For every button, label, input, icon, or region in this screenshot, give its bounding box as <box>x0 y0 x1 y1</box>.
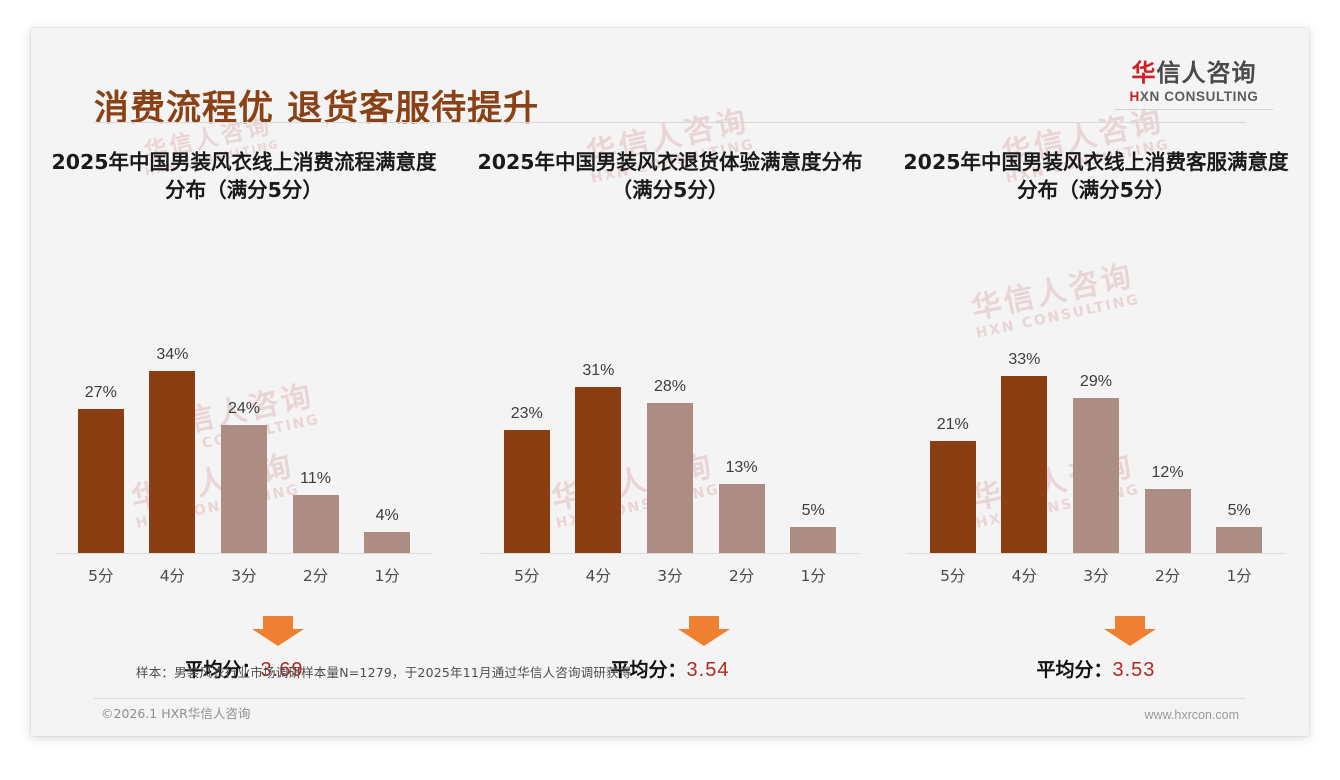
x-axis-tick: 2分 <box>709 564 773 586</box>
chart-title: 2025年中国男装风衣线上消费客服满意度分布（满分5分） <box>883 148 1309 214</box>
bar-value-label: 28% <box>654 378 686 396</box>
x-axis-labels: 5分 4分 3分 2分 1分 <box>65 554 423 586</box>
x-axis-tick: 5分 <box>921 564 985 586</box>
down-arrow-icon <box>678 616 730 646</box>
bar-value-label: 13% <box>726 459 758 477</box>
page-title: 消费流程优 退货客服待提升 <box>94 80 539 131</box>
chart-panel: 2025年中国男装风衣线上消费流程满意度分布（满分5分） 27% 34% 24% <box>31 148 457 682</box>
bar-group: 21% 33% 29% 12% <box>917 254 1275 554</box>
bar-column: 21% <box>921 254 985 554</box>
bar <box>790 527 836 554</box>
bar-column: 5% <box>1207 254 1271 554</box>
logo-en-accent: H <box>1130 89 1140 104</box>
bar-group: 23% 31% 28% 13% <box>491 254 849 554</box>
bar-column: 31% <box>566 254 630 554</box>
footer-divider <box>94 698 1246 699</box>
bar <box>149 371 195 554</box>
bar-chart: 23% 31% 28% 13% <box>491 254 849 554</box>
bar-column: 29% <box>1064 254 1128 554</box>
x-axis-labels: 5分 4分 3分 2分 1分 <box>491 554 849 586</box>
x-axis-line <box>55 553 433 554</box>
bar-value-label: 31% <box>582 362 614 380</box>
average-score-text: 平均分：3.53 <box>883 655 1309 682</box>
bar <box>504 430 550 554</box>
logo-underline <box>1115 109 1273 110</box>
x-axis-tick: 5分 <box>495 564 559 586</box>
copyright-text: ©2026.1 HXR华信人咨询 <box>101 703 250 722</box>
bar-value-label: 5% <box>802 502 825 520</box>
average-value: 3.54 <box>687 659 730 681</box>
x-axis-tick: 3分 <box>212 564 276 586</box>
charts-row: 2025年中国男装风衣线上消费流程满意度分布（满分5分） 27% 34% 24% <box>31 148 1309 682</box>
bar <box>719 484 765 554</box>
bar-column: 24% <box>212 254 276 554</box>
logo-chinese-text: 华信人咨询 <box>1115 60 1273 86</box>
logo-cn-accent: 华 <box>1132 59 1157 87</box>
bar-value-label: 5% <box>1228 502 1251 520</box>
logo-en-rest: XN CONSULTING <box>1140 89 1259 104</box>
chart-panel: 2025年中国男装风衣退货体验满意度分布（满分5分） 23% 31% 28% <box>457 148 883 682</box>
website-url[interactable]: www.hxrcon.com <box>1145 708 1239 722</box>
bar-value-label: 23% <box>511 405 543 423</box>
chart-title: 2025年中国男装风衣退货体验满意度分布（满分5分） <box>457 148 883 214</box>
bar <box>78 409 124 554</box>
bar-chart: 21% 33% 29% 12% <box>917 254 1275 554</box>
x-axis-tick: 2分 <box>1135 564 1199 586</box>
bar-column: 27% <box>69 254 133 554</box>
x-axis-tick: 2分 <box>283 564 347 586</box>
bar <box>1001 376 1047 554</box>
bar-value-label: 29% <box>1080 373 1112 391</box>
x-axis-tick: 1分 <box>781 564 845 586</box>
bar-value-label: 34% <box>156 346 188 364</box>
bar <box>293 495 339 554</box>
slide-canvas: 华信人咨询 HXN CONSULTING 华信人咨询 HXN CONSULTIN… <box>31 28 1309 736</box>
chart-panel: 2025年中国男装风衣线上消费客服满意度分布（满分5分） 21% 33% 29% <box>883 148 1309 682</box>
bar-column: 11% <box>283 254 347 554</box>
x-axis-line <box>907 553 1285 554</box>
bar-chart: 27% 34% 24% 11% <box>65 254 423 554</box>
bar <box>575 387 621 554</box>
bar-value-label: 33% <box>1008 351 1040 369</box>
bar-value-label: 4% <box>376 507 399 525</box>
down-arrow-icon <box>252 616 304 646</box>
source-note: 样本：男装风衣行业市场调研样本量N=1279，于2025年11月通过华信人咨询调… <box>136 662 631 681</box>
bar-column: 33% <box>992 254 1056 554</box>
x-axis-tick: 1分 <box>355 564 419 586</box>
average-label: 平均分： <box>1036 659 1112 681</box>
x-axis-labels: 5分 4分 3分 2分 1分 <box>917 554 1275 586</box>
average-value: 3.53 <box>1113 659 1156 681</box>
chart-title: 2025年中国男装风衣线上消费流程满意度分布（满分5分） <box>31 148 457 214</box>
bar-value-label: 24% <box>228 400 260 418</box>
logo-cn-rest: 信人咨询 <box>1157 59 1257 87</box>
bar-value-label: 27% <box>85 384 117 402</box>
bar-column: 13% <box>709 254 773 554</box>
bar <box>647 403 693 554</box>
bar-column: 4% <box>355 254 419 554</box>
bar <box>1145 489 1191 554</box>
x-axis-tick: 3分 <box>1064 564 1128 586</box>
bar-column: 34% <box>140 254 204 554</box>
bar-column: 23% <box>495 254 559 554</box>
bar-value-label: 12% <box>1152 464 1184 482</box>
bar-column: 12% <box>1135 254 1199 554</box>
bar-value-label: 21% <box>937 416 969 434</box>
average-block: 平均分：3.53 <box>883 616 1309 682</box>
bar-value-label: 11% <box>300 470 331 488</box>
bar <box>364 532 410 554</box>
header-divider <box>94 122 1246 123</box>
x-axis-tick: 1分 <box>1207 564 1271 586</box>
brand-logo: 华信人咨询 HXN CONSULTING <box>1115 60 1273 110</box>
x-axis-tick: 4分 <box>140 564 204 586</box>
bar <box>930 441 976 554</box>
slide-header: 消费流程优 退货客服待提升 华信人咨询 HXN CONSULTING <box>31 28 1309 124</box>
bar <box>221 425 267 554</box>
bar-column: 5% <box>781 254 845 554</box>
down-arrow-icon <box>1104 616 1156 646</box>
bar-column: 28% <box>638 254 702 554</box>
x-axis-tick: 4分 <box>992 564 1056 586</box>
bar <box>1216 527 1262 554</box>
logo-english-text: HXN CONSULTING <box>1115 89 1273 104</box>
x-axis-tick: 4分 <box>566 564 630 586</box>
x-axis-tick: 5分 <box>69 564 133 586</box>
x-axis-line <box>481 553 859 554</box>
x-axis-tick: 3分 <box>638 564 702 586</box>
bar <box>1073 398 1119 554</box>
bar-group: 27% 34% 24% 11% <box>65 254 423 554</box>
